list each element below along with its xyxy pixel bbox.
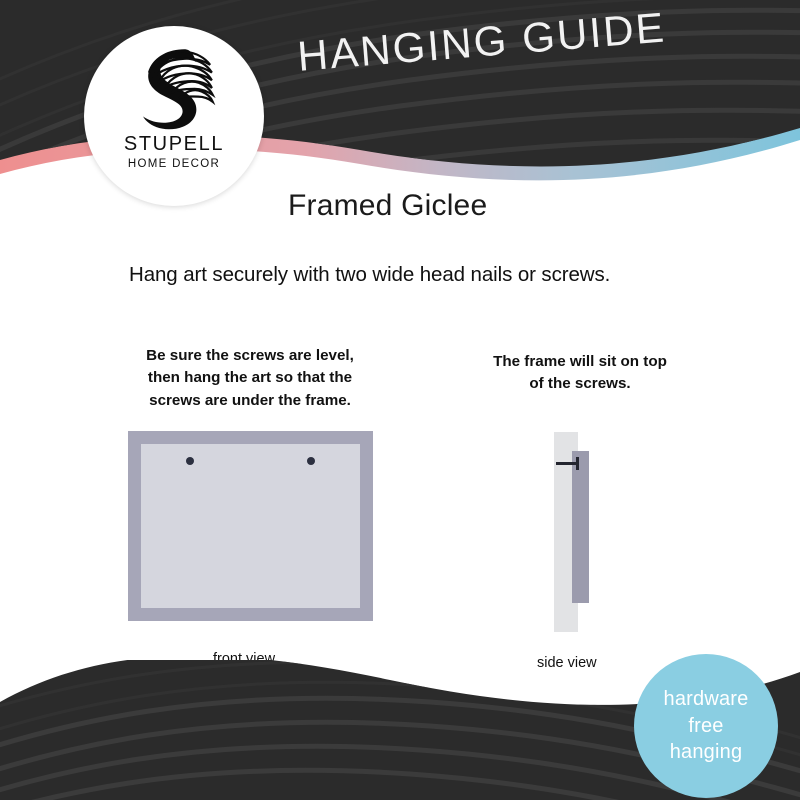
screw-dot-right xyxy=(307,457,315,465)
brand-name: STUPELL xyxy=(124,134,224,154)
badge-line-2: free xyxy=(688,713,723,740)
instruction-front-line-1: Be sure the screws are level, xyxy=(124,345,376,367)
side-view-screw-shaft xyxy=(556,462,578,465)
instruction-front-line-3: screws are under the frame. xyxy=(124,390,376,412)
badge-line-3: hanging xyxy=(670,739,743,766)
side-view-frame xyxy=(572,451,589,603)
side-view-screw-head xyxy=(576,457,579,470)
badge-line-1: hardware xyxy=(664,686,749,713)
instruction-front-view: Be sure the screws are level, then hang … xyxy=(124,345,376,412)
front-view-mat xyxy=(141,444,360,608)
hanging-guide-page: HANGING GUIDE STUPELL HOME DECOR Framed … xyxy=(0,0,800,800)
screw-dot-left xyxy=(186,457,194,465)
brand-logo-badge: STUPELL HOME DECOR xyxy=(84,26,264,206)
instruction-front-line-2: then hang the art so that the xyxy=(124,367,376,389)
instruction-side-view: The frame will sit on top of the screws. xyxy=(468,351,692,396)
stupell-swoosh-logo-icon xyxy=(131,44,217,132)
lede-text: Hang art securely with two wide head nai… xyxy=(129,263,610,287)
instruction-side-line-2: of the screws. xyxy=(468,373,692,395)
hardware-free-hanging-badge: hardware free hanging xyxy=(634,654,778,798)
product-type-heading: Framed Giclee xyxy=(288,189,487,223)
brand-tagline: HOME DECOR xyxy=(128,159,220,171)
front-view-diagram xyxy=(128,431,373,621)
instruction-side-line-1: The frame will sit on top xyxy=(468,351,692,373)
